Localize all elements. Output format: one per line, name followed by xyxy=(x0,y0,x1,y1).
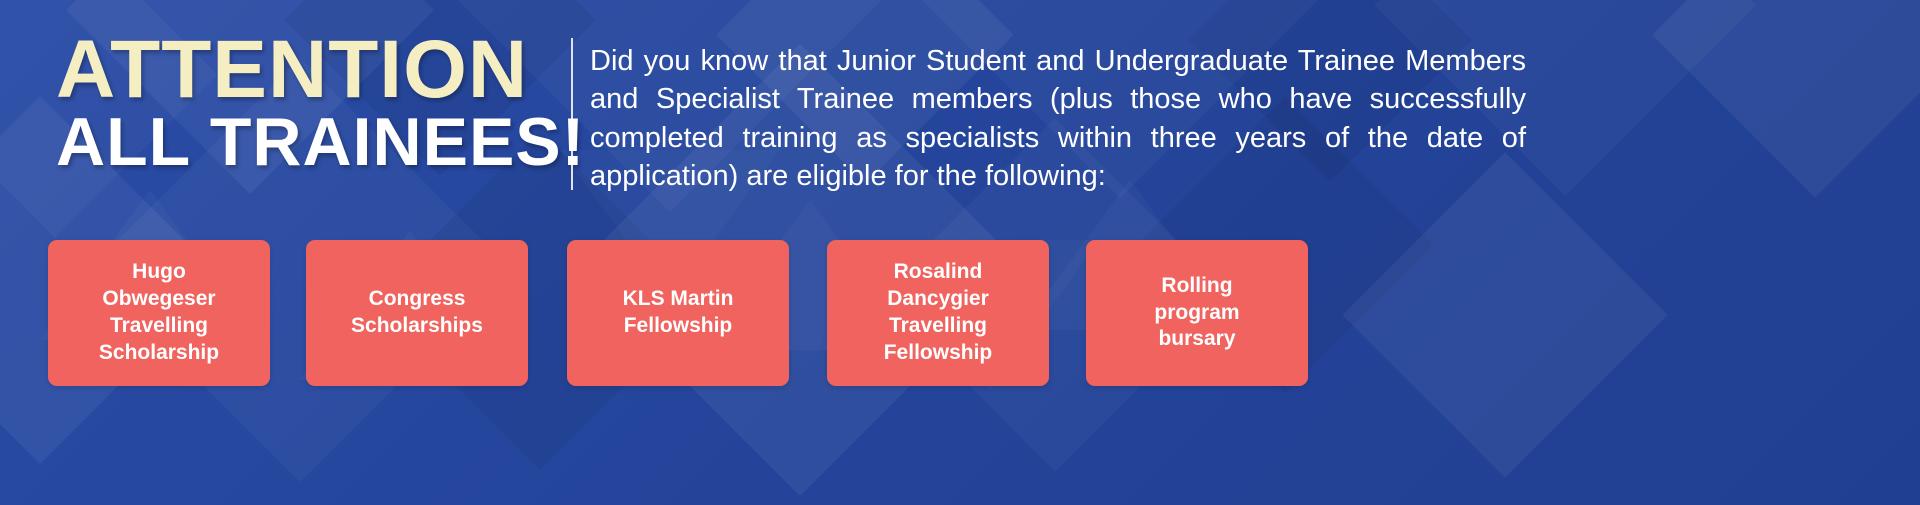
award-card[interactable]: Congress Scholarships xyxy=(306,240,528,386)
headline-line-1: ATTENTION xyxy=(56,32,566,107)
award-card-label: Rosalind Dancygier Travelling Fellowship xyxy=(884,259,993,367)
headline: ATTENTION ALL TRAINEES! xyxy=(56,32,566,174)
award-card[interactable]: Rosalind Dancygier Travelling Fellowship xyxy=(827,240,1049,386)
award-card-label: Congress Scholarships xyxy=(351,286,483,340)
award-card[interactable]: Rolling program bursary xyxy=(1086,240,1308,386)
award-card[interactable]: KLS Martin Fellowship xyxy=(567,240,789,386)
attention-trainees-banner: ATTENTION ALL TRAINEES! Did you know tha… xyxy=(0,0,1920,505)
award-card-label: Hugo Obwegeser Travelling Scholarship xyxy=(99,259,219,367)
award-card[interactable]: Hugo Obwegeser Travelling Scholarship xyxy=(48,240,270,386)
body-paragraph: Did you know that Junior Student and Und… xyxy=(590,42,1526,195)
award-card-label: Rolling program bursary xyxy=(1154,273,1239,354)
award-cards-row: Hugo Obwegeser Travelling Scholarship Co… xyxy=(0,240,1920,390)
award-card-label: KLS Martin Fellowship xyxy=(623,286,734,340)
headline-line-2: ALL TRAINEES! xyxy=(56,111,566,174)
vertical-divider xyxy=(571,38,573,190)
